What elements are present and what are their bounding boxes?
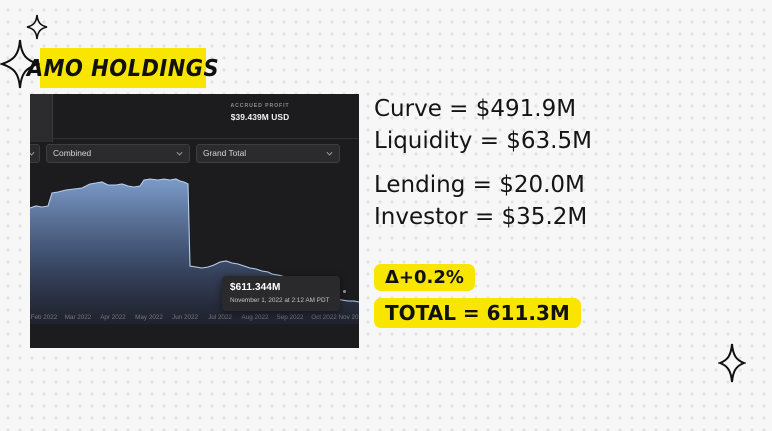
partial-filter-dropdown[interactable] [30,144,40,163]
panel-sidebar-strip [30,94,53,142]
stat-liquidity: Liquidity = $63.5M [374,125,674,157]
combined-filter-value: Combined [53,148,91,158]
accrued-profit-label: ACCRUED PROFIT [200,103,320,109]
tooltip-date: November 1, 2022 at 2:12 AM PDT [230,297,332,304]
x-tick-label: Oct 2022 [311,314,337,321]
x-tick-label: Feb 2022 [31,314,58,321]
page-title: AMO HOLDINGS [27,55,219,82]
chart-tooltip: $611.344M November 1, 2022 at 2:12 AM PD… [222,276,340,311]
grand-total-filter-dropdown[interactable]: Grand Total [196,144,340,163]
x-tick-label: Apr 2022 [100,314,126,321]
chevron-down-icon [326,150,333,157]
sparkle-small-icon [26,14,48,45]
x-tick-label: Jul 2022 [208,314,232,321]
filters-row: Combined Grand Total [30,140,359,166]
x-tick-label: Nov 2022 [339,314,359,321]
tooltip-marker-dot [343,290,346,293]
chevron-down-icon [176,150,183,157]
chart-region[interactable]: Feb 2022 Mar 2022 Apr 2022 May 2022 Jun … [30,168,359,348]
chevron-down-icon [30,150,35,157]
stat-curve: Curve = $491.9M [374,93,674,125]
x-tick-label: Aug 2022 [242,314,269,321]
x-tick-label: Sep 2022 [277,314,304,321]
tooltip-value: $611.344M [230,282,332,293]
x-tick-label: Jun 2022 [172,314,198,321]
total-badge: TOTAL = 611.3M [374,298,581,328]
x-tick-label: May 2022 [135,314,163,321]
stats-group-one: Curve = $491.9M Liquidity = $63.5M [374,93,674,157]
accrued-profit-value: $39.439M USD [200,112,320,122]
page-title-banner: AMO HOLDINGS [40,48,206,88]
stat-lending: Lending = $20.0M [374,169,674,201]
stats-column: Curve = $491.9M Liquidity = $63.5M Lendi… [374,93,674,233]
sparkle-corner-icon [718,342,746,389]
delta-badge: Δ+0.2% [374,264,475,291]
dashboard-panel: ACCRUED PROFIT $39.439M USD Combined Gra… [30,94,359,348]
chart-x-axis: Feb 2022 Mar 2022 Apr 2022 May 2022 Jun … [30,314,359,326]
combined-filter-dropdown[interactable]: Combined [46,144,190,163]
grand-total-filter-value: Grand Total [203,148,246,158]
stat-investor: Investor = $35.2M [374,201,674,233]
panel-header: ACCRUED PROFIT $39.439M USD [52,94,359,139]
x-tick-label: Mar 2022 [65,314,92,321]
accrued-profit-block: ACCRUED PROFIT $39.439M USD [200,103,320,122]
stats-group-two: Lending = $20.0M Investor = $35.2M [374,169,674,233]
